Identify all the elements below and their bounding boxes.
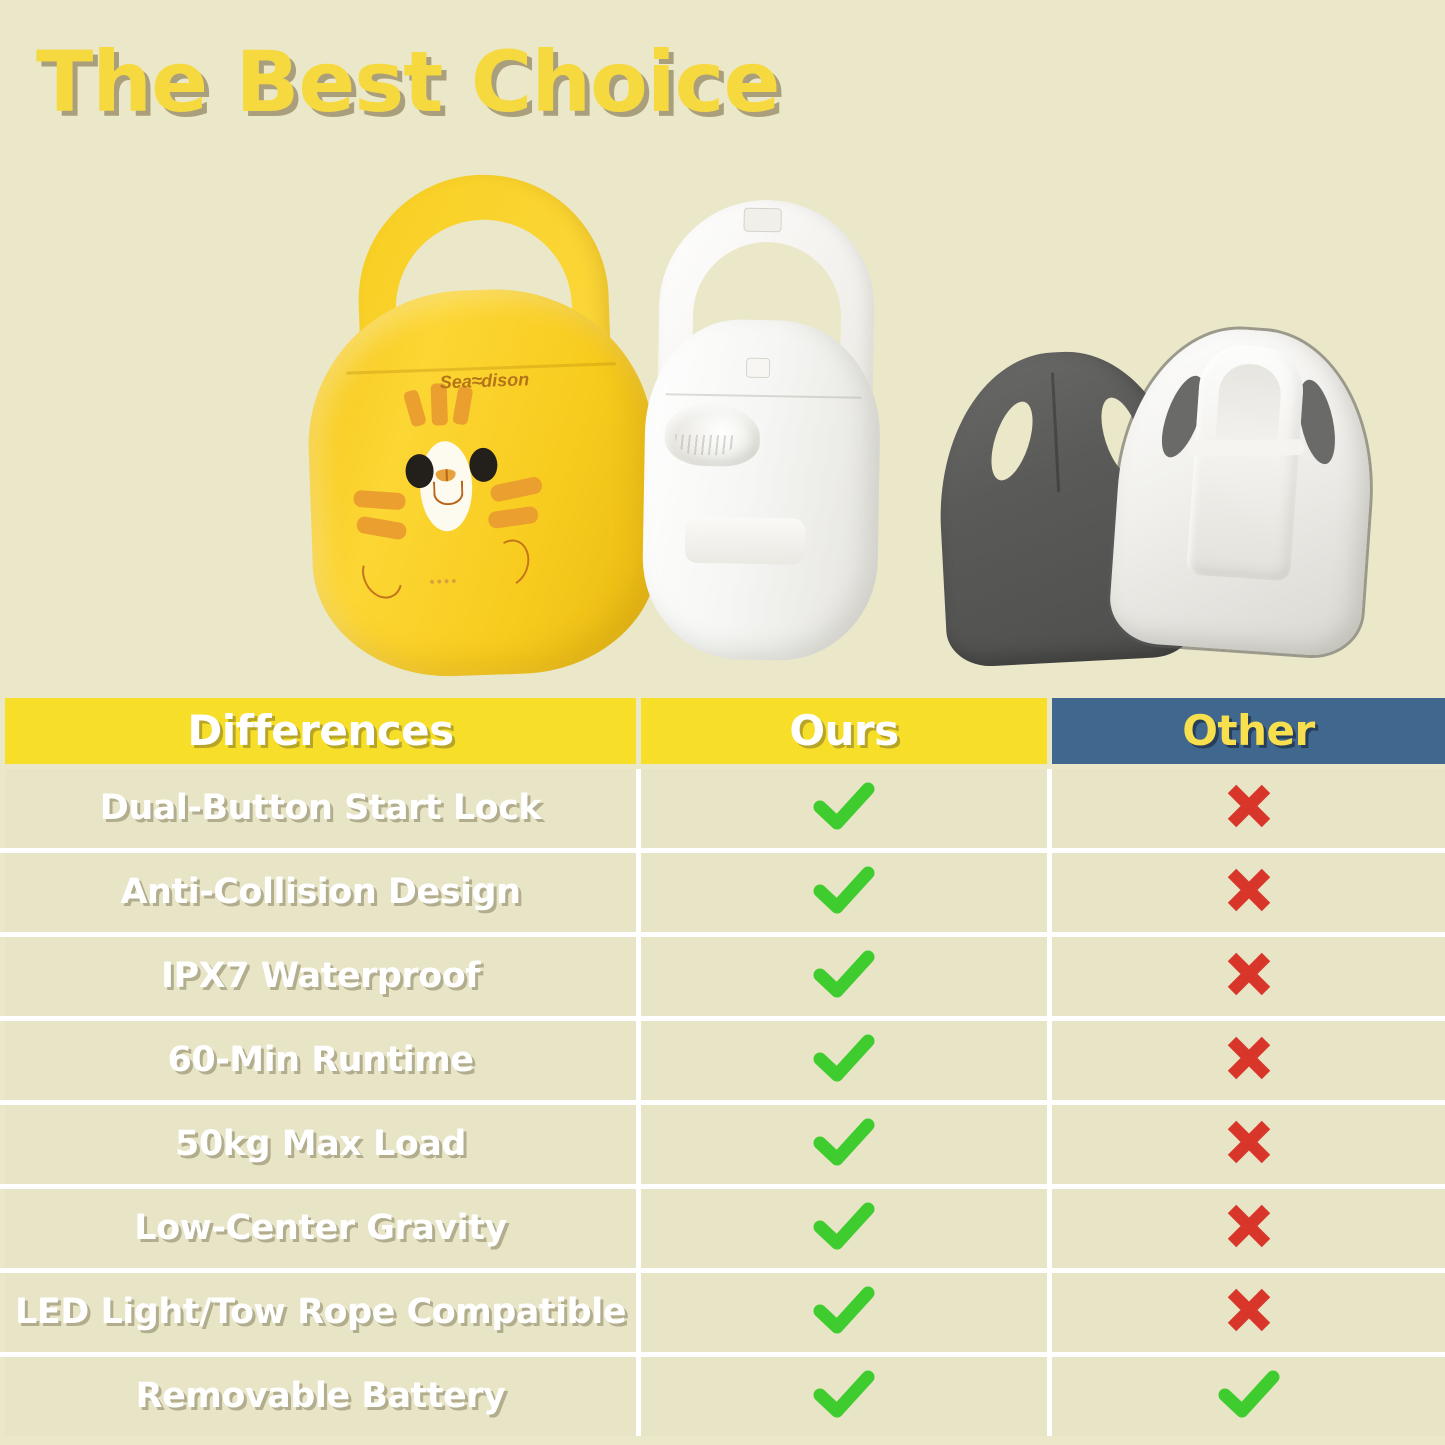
cat-whisker [355, 515, 407, 540]
column-header-other-label: Other [1182, 710, 1314, 752]
ours-value: check [875, 1370, 876, 1371]
column-header-differences-label: Differences [187, 710, 453, 752]
scooter-button [746, 358, 770, 378]
white-swim-fin [1107, 322, 1381, 659]
ours-cell: check [639, 1271, 1050, 1355]
table-row: 50kg Max Loadcheckcross [3, 1103, 1445, 1187]
ours-cell: check [639, 851, 1050, 935]
cross-icon [1223, 948, 1275, 1000]
cat-eye-right [469, 447, 498, 482]
page-title: The Best Choice [36, 40, 779, 124]
cross-icon [1223, 1032, 1275, 1084]
table-row: Anti-Collision Designcheckcross [3, 851, 1445, 935]
other-cell: cross [1050, 1271, 1445, 1355]
feature-label: 60-Min Runtime [168, 1043, 474, 1078]
ours-value: check [875, 866, 876, 867]
other-value: cross [1275, 864, 1276, 865]
cat-cheek-swirl [484, 534, 535, 591]
feature-name-cell: IPX7 Waterproof [3, 935, 639, 1019]
table-row: 60-Min Runtimecheckcross [3, 1019, 1445, 1103]
ours-cell: check [639, 767, 1050, 851]
brand-name-text: Sea [439, 371, 472, 392]
cross-icon [1223, 1200, 1275, 1252]
other-cell: check [1050, 1355, 1445, 1439]
check-icon [813, 1286, 875, 1334]
other-cell: cross [1050, 1187, 1445, 1271]
check-icon [813, 1370, 875, 1418]
feature-label: Dual-Button Start Lock [100, 791, 541, 826]
feature-name-cell: 60-Min Runtime [3, 1019, 639, 1103]
cross-icon [1223, 1116, 1275, 1168]
table-row: LED Light/Tow Rope Compatiblecheckcross [3, 1271, 1445, 1355]
ours-cell: check [639, 1103, 1050, 1187]
cat-cheek-swirl [354, 546, 410, 606]
ours-cell: check [639, 935, 1050, 1019]
feature-label: LED Light/Tow Rope Compatible [15, 1295, 626, 1330]
other-cell: cross [1050, 851, 1445, 935]
white-sea-scooter-image [641, 198, 884, 662]
table-row: IPX7 Waterproofcheckcross [3, 935, 1445, 1019]
ours-value: check [875, 1286, 876, 1287]
ours-value: check [875, 1118, 876, 1119]
ours-cell: check [639, 1019, 1050, 1103]
feature-label: 50kg Max Load [175, 1127, 466, 1162]
other-value: cross [1275, 1284, 1276, 1285]
check-icon [813, 1034, 875, 1082]
swim-fins-image [940, 330, 1370, 670]
feature-name-cell: Removable Battery [3, 1355, 639, 1439]
cat-whisker [353, 490, 406, 511]
feature-name-cell: 50kg Max Load [3, 1103, 639, 1187]
other-value: cross [1275, 948, 1276, 949]
column-header-ours-label: Ours [789, 710, 898, 752]
ours-value: check [875, 950, 876, 951]
feature-name-cell: Anti-Collision Design [3, 851, 639, 935]
ours-value: check [875, 1202, 876, 1203]
yellow-sea-scooter-image: Sea≈dison •••• [299, 169, 661, 681]
table-row: Dual-Button Start Lockcheckcross [3, 767, 1445, 851]
check-icon [1218, 1370, 1280, 1418]
feature-label: Removable Battery [136, 1379, 506, 1414]
other-value: cross [1275, 1032, 1276, 1033]
comparison-table: Differences Ours Other Dual-Button Start… [0, 690, 1445, 1441]
cross-icon [1223, 780, 1275, 832]
other-value: cross [1275, 1200, 1276, 1201]
ours-cell: check [639, 1355, 1050, 1439]
white-fin-strap [1187, 439, 1305, 457]
check-icon [813, 866, 875, 914]
feature-label: Anti-Collision Design [120, 875, 520, 910]
other-cell: cross [1050, 935, 1445, 1019]
column-header-differences: Differences [3, 694, 639, 767]
feature-label: Low-Center Gravity [134, 1211, 506, 1246]
other-cell: cross [1050, 1103, 1445, 1187]
check-icon [813, 1118, 875, 1166]
scooter-clip [743, 208, 781, 233]
table-header-row: Differences Ours Other [3, 694, 1445, 767]
table-row: Low-Center Gravitycheckcross [3, 1187, 1445, 1271]
other-cell: cross [1050, 1019, 1445, 1103]
other-cell: cross [1050, 767, 1445, 851]
white-fin-foot-pocket [1186, 343, 1306, 582]
cat-face-decoration: •••• [303, 284, 661, 681]
feature-label: IPX7 Waterproof [161, 959, 480, 994]
check-icon [813, 950, 875, 998]
scooter-lower-panel [685, 517, 806, 565]
cat-whisker [487, 506, 539, 530]
feature-name-cell: Low-Center Gravity [3, 1187, 639, 1271]
white-fin-foot-pocket-inner [1215, 362, 1283, 450]
ours-cell: check [639, 1187, 1050, 1271]
other-value: check [1280, 1370, 1281, 1371]
brand-suffix-text: dison [481, 369, 530, 391]
column-header-other: Other [1050, 694, 1445, 767]
table-body: Dual-Button Start LockcheckcrossAnti-Col… [3, 767, 1445, 1439]
feature-name-cell: LED Light/Tow Rope Compatible [3, 1271, 639, 1355]
feature-name-cell: Dual-Button Start Lock [3, 767, 639, 851]
table-row: Removable Batterycheckcheck [3, 1355, 1445, 1439]
column-header-ours: Ours [639, 694, 1050, 767]
other-value: cross [1275, 1116, 1276, 1117]
cross-icon [1223, 864, 1275, 916]
check-icon [813, 782, 875, 830]
hero-product-images: Sea≈dison •••• [0, 150, 1445, 690]
cross-icon [1223, 1284, 1275, 1336]
ours-value: check [875, 1034, 876, 1035]
check-icon [813, 1202, 875, 1250]
cat-whisker [489, 476, 543, 503]
other-value: cross [1275, 780, 1276, 781]
ours-value: check [875, 782, 876, 783]
cat-mouth-dots: •••• [429, 573, 459, 591]
